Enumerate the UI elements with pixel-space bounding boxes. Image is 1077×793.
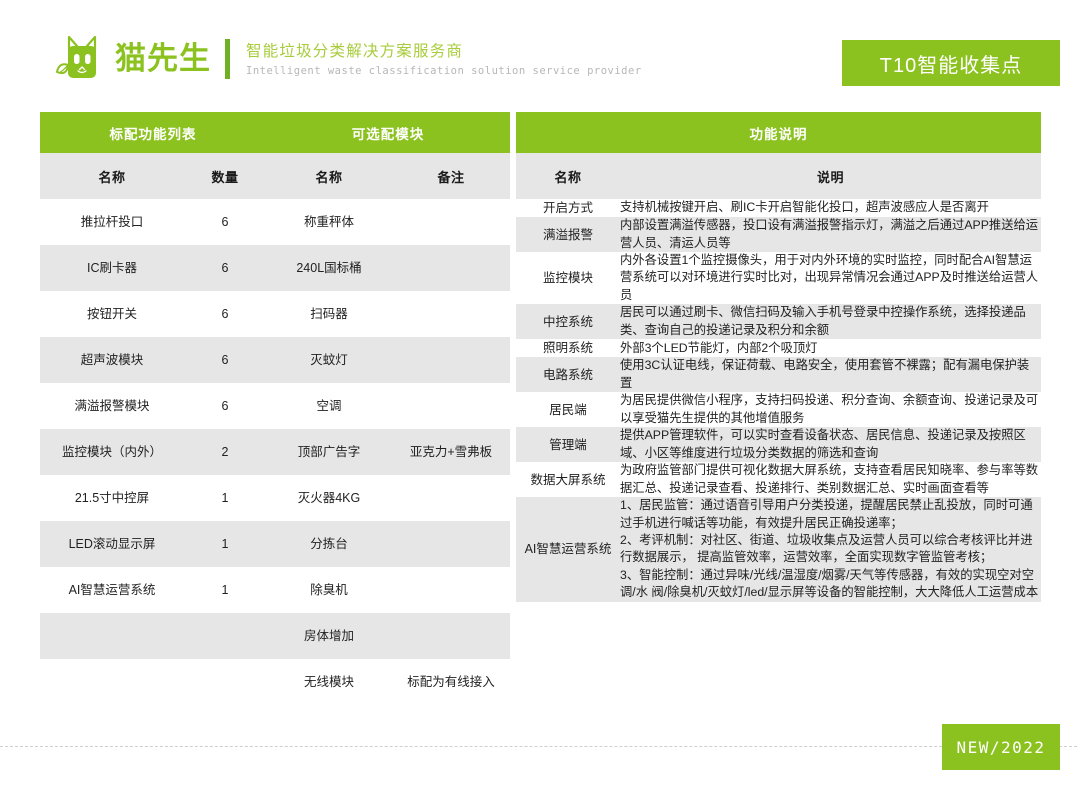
footer-divider — [0, 746, 1077, 747]
std-qty-cell — [184, 659, 266, 705]
function-description-table: 功能说明 名称 说明 开启方式支持机械按键开启、刷IC卡开启智能化投口，超声波感… — [516, 112, 1041, 602]
function-name-cell: 电路系统 — [516, 357, 620, 392]
opt-remark-cell — [392, 475, 510, 521]
function-desc-cell: 外部3个LED节能灯，内部2个吸顶灯 — [620, 339, 1041, 357]
standard-and-optional-features-table: 标配功能列表 可选配模块 名称 数量 名称 备注 推拉杆投口6称重秤体IC刷卡器… — [40, 112, 510, 705]
opt-name-cell: 分拣台 — [266, 521, 392, 567]
table-row: AI智慧运营系统1、居民监管：通过语音引导用户分类投递，提醒居民禁止乱投放，同时… — [516, 497, 1041, 602]
table-row: 超声波模块6灭蚊灯 — [40, 337, 510, 383]
std-name-cell — [40, 613, 184, 659]
tagline-chinese: 智能垃圾分类解决方案服务商 — [246, 41, 642, 63]
std-name-cell: 超声波模块 — [40, 337, 184, 383]
std-qty-cell: 1 — [184, 521, 266, 567]
opt-name-cell: 扫码器 — [266, 291, 392, 337]
function-name-cell: 监控模块 — [516, 252, 620, 304]
opt-remark-cell — [392, 291, 510, 337]
col-header-opt-remark: 备注 — [392, 153, 510, 199]
function-name-cell: 数据大屏系统 — [516, 462, 620, 497]
col-header-opt-name: 名称 — [266, 153, 392, 199]
left-table-head: 标配功能列表 可选配模块 名称 数量 名称 备注 — [40, 112, 510, 199]
std-qty-cell: 1 — [184, 475, 266, 521]
logo-wordmark: 猫先生 — [115, 43, 211, 76]
table-row: 21.5寸中控屏1灭火器4KG — [40, 475, 510, 521]
function-desc-cell: 为居民提供微信小程序，支持扫码投递、积分查询、余额查询、投递记录及可以享受猫先生… — [620, 392, 1041, 427]
function-desc-cell: 提供APP管理软件，可以实时查看设备状态、居民信息、投递记录及按照区域、小区等维… — [620, 427, 1041, 462]
std-name-cell: 监控模块（内外） — [40, 429, 184, 475]
col-header-std-qty: 数量 — [184, 153, 266, 199]
opt-remark-cell — [392, 521, 510, 567]
left-group-header-row: 标配功能列表 可选配模块 — [40, 112, 510, 153]
function-desc-cell: 1、居民监管：通过语音引导用户分类投递，提醒居民禁止乱投放，同时可通过手机进行喊… — [620, 497, 1041, 602]
opt-name-cell: 称重秤体 — [266, 199, 392, 245]
function-desc-cell: 为政府监管部门提供可视化数据大屏系统，支持查看居民知晓率、参与率等数据汇总、投递… — [620, 462, 1041, 497]
table-row: LED滚动显示屏1分拣台 — [40, 521, 510, 567]
table-row: 照明系统外部3个LED节能灯，内部2个吸顶灯 — [516, 339, 1041, 357]
col-header-func-name: 名称 — [516, 153, 620, 199]
opt-name-cell: 除臭机 — [266, 567, 392, 613]
std-name-cell: 21.5寸中控屏 — [40, 475, 184, 521]
std-qty-cell: 1 — [184, 567, 266, 613]
std-qty-cell — [184, 613, 266, 659]
left-column-header-row: 名称 数量 名称 备注 — [40, 153, 510, 199]
table-row: IC刷卡器6240L国标桶 — [40, 245, 510, 291]
opt-name-cell: 顶部广告字 — [266, 429, 392, 475]
std-name-cell: IC刷卡器 — [40, 245, 184, 291]
page-header: 猫先生 智能垃圾分类解决方案服务商 Intelligent waste clas… — [0, 0, 1077, 100]
group-header-standard: 标配功能列表 — [40, 112, 266, 153]
function-name-cell: 中控系统 — [516, 304, 620, 339]
col-header-std-name: 名称 — [40, 153, 184, 199]
group-header-function-desc: 功能说明 — [516, 112, 1041, 153]
opt-remark-cell — [392, 337, 510, 383]
table-row: 中控系统居民可以通过刷卡、微信扫码及输入手机号登录中控操作系统，选择投递品类、查… — [516, 304, 1041, 339]
function-desc-cell: 使用3C认证电线，保证荷载、电路安全，使用套管不裸露；配有漏电保护装置 — [620, 357, 1041, 392]
page-title: T10智能收集点 — [842, 40, 1060, 86]
table-row: 按钮开关6扫码器 — [40, 291, 510, 337]
function-name-cell: 照明系统 — [516, 339, 620, 357]
opt-name-cell: 房体增加 — [266, 613, 392, 659]
opt-name-cell: 灭蚊灯 — [266, 337, 392, 383]
table-row: 管理端提供APP管理软件，可以实时查看设备状态、居民信息、投递记录及按照区域、小… — [516, 427, 1041, 462]
std-qty-cell: 6 — [184, 199, 266, 245]
table-row: 无线模块标配为有线接入 — [40, 659, 510, 705]
opt-remark-cell: 标配为有线接入 — [392, 659, 510, 705]
std-name-cell: LED滚动显示屏 — [40, 521, 184, 567]
std-qty-cell: 6 — [184, 291, 266, 337]
table-row: 居民端为居民提供微信小程序，支持扫码投递、积分查询、余额查询、投递记录及可以享受… — [516, 392, 1041, 427]
group-header-optional: 可选配模块 — [266, 112, 510, 153]
table-row: 监控模块内外各设置1个监控摄像头，用于对内外环境的实时监控，同时配合AI智慧运营… — [516, 252, 1041, 304]
table-row: 满溢报警内部设置满溢传感器，投口设有满溢报警指示灯，满溢之后通过APP推送给运营… — [516, 217, 1041, 252]
function-name-cell: AI智慧运营系统 — [516, 497, 620, 602]
right-group-header-row: 功能说明 — [516, 112, 1041, 153]
table-row: 推拉杆投口6称重秤体 — [40, 199, 510, 245]
left-table-body: 推拉杆投口6称重秤体IC刷卡器6240L国标桶按钮开关6扫码器超声波模块6灭蚊灯… — [40, 199, 510, 705]
std-qty-cell: 2 — [184, 429, 266, 475]
right-table-head: 功能说明 名称 说明 — [516, 112, 1041, 199]
right-table-body: 开启方式支持机械按键开启、刷IC卡开启智能化投口，超声波感应人是否离开满溢报警内… — [516, 199, 1041, 602]
col-header-func-desc: 说明 — [620, 153, 1041, 199]
opt-remark-cell — [392, 567, 510, 613]
tagline-english: Intelligent waste classification solutio… — [246, 65, 642, 77]
table-row: 开启方式支持机械按键开启、刷IC卡开启智能化投口，超声波感应人是否离开 — [516, 199, 1041, 217]
std-name-cell — [40, 659, 184, 705]
opt-name-cell: 灭火器4KG — [266, 475, 392, 521]
function-name-cell: 居民端 — [516, 392, 620, 427]
opt-name-cell: 240L国标桶 — [266, 245, 392, 291]
opt-name-cell: 空调 — [266, 383, 392, 429]
opt-remark-cell — [392, 199, 510, 245]
std-qty-cell: 6 — [184, 337, 266, 383]
slide-page: 猫先生 智能垃圾分类解决方案服务商 Intelligent waste clas… — [0, 0, 1077, 793]
table-row: 监控模块（内外）2顶部广告字亚克力+雪弗板 — [40, 429, 510, 475]
table-row: 电路系统使用3C认证电线，保证荷载、电路安全，使用套管不裸露；配有漏电保护装置 — [516, 357, 1041, 392]
cat-logo-icon — [55, 34, 109, 84]
opt-remark-cell — [392, 383, 510, 429]
function-name-cell: 满溢报警 — [516, 217, 620, 252]
std-qty-cell: 6 — [184, 383, 266, 429]
opt-name-cell: 无线模块 — [266, 659, 392, 705]
function-desc-cell: 内外各设置1个监控摄像头，用于对内外环境的实时监控，同时配合AI智慧运营系统可以… — [620, 252, 1041, 304]
std-qty-cell: 6 — [184, 245, 266, 291]
std-name-cell: 推拉杆投口 — [40, 199, 184, 245]
table-row: 数据大屏系统为政府监管部门提供可视化数据大屏系统，支持查看居民知晓率、参与率等数… — [516, 462, 1041, 497]
std-name-cell: AI智慧运营系统 — [40, 567, 184, 613]
opt-remark-cell — [392, 613, 510, 659]
brand-divider — [225, 39, 230, 79]
function-desc-cell: 居民可以通过刷卡、微信扫码及输入手机号登录中控操作系统，选择投递品类、查询自己的… — [620, 304, 1041, 339]
function-desc-cell: 支持机械按键开启、刷IC卡开启智能化投口，超声波感应人是否离开 — [620, 199, 1041, 217]
std-name-cell: 满溢报警模块 — [40, 383, 184, 429]
brand-block: 猫先生 智能垃圾分类解决方案服务商 Intelligent waste clas… — [55, 30, 642, 88]
function-desc-cell: 内部设置满溢传感器，投口设有满溢报警指示灯，满溢之后通过APP推送给运营人员、清… — [620, 217, 1041, 252]
footer-badge: NEW/2022 — [942, 724, 1060, 770]
function-name-cell: 开启方式 — [516, 199, 620, 217]
table-row: AI智慧运营系统1除臭机 — [40, 567, 510, 613]
function-name-cell: 管理端 — [516, 427, 620, 462]
tagline-block: 智能垃圾分类解决方案服务商 Intelligent waste classifi… — [246, 41, 642, 78]
std-name-cell: 按钮开关 — [40, 291, 184, 337]
opt-remark-cell: 亚克力+雪弗板 — [392, 429, 510, 475]
opt-remark-cell — [392, 245, 510, 291]
table-row: 房体增加 — [40, 613, 510, 659]
table-row: 满溢报警模块6空调 — [40, 383, 510, 429]
right-column-header-row: 名称 说明 — [516, 153, 1041, 199]
